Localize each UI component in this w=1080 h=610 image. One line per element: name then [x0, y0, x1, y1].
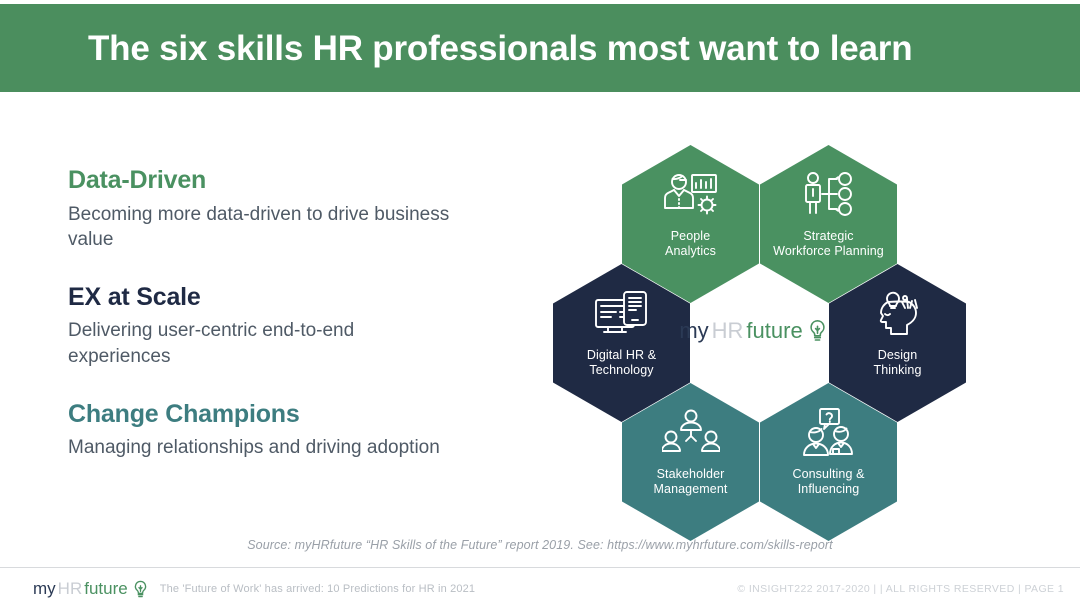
skill-block-data-driven: Data-Driven Becoming more data-driven to… [68, 166, 488, 253]
person-org-branches-icon [800, 167, 858, 223]
logo-text-future: future [746, 318, 802, 344]
footer-logo[interactable]: my HR future [33, 579, 148, 599]
two-people-question-bubble-icon [800, 405, 858, 461]
hexagon-label: People Analytics [659, 229, 722, 260]
footer-bar: my HR future The 'Future of Work' has ar… [0, 567, 1080, 610]
skill-heading: Change Champions [68, 400, 488, 430]
analyst-person-chart-gear-icon [660, 167, 722, 223]
skill-description: Becoming more data-driven to drive busin… [68, 202, 458, 253]
page-title: The six skills HR professionals most wan… [0, 31, 912, 66]
logo-text-my: my [679, 318, 708, 344]
hexagon-label: Strategic Workforce Planning [767, 229, 890, 260]
footer-logo-text-my: my [33, 579, 56, 599]
skill-block-ex-at-scale: EX at Scale Delivering user-centric end-… [68, 283, 488, 370]
footer-logo-text-hr: HR [58, 579, 83, 599]
center-logo: my HR future [678, 310, 828, 352]
source-note: Source: myHRfuture “HR Skills of the Fut… [0, 538, 1080, 552]
head-lightbulb-tools-icon [869, 286, 927, 342]
footer-tagline: The 'Future of Work' has arrived: 10 Pre… [160, 583, 475, 595]
lightbulb-icon [133, 580, 148, 599]
hexagon-label: Design Thinking [867, 348, 927, 379]
three-people-hierarchy-icon [662, 405, 720, 461]
hexagon-label: Stakeholder Management [648, 467, 734, 498]
lightbulb-icon [808, 319, 827, 343]
skill-heading: Data-Driven [68, 166, 488, 196]
header-band: The six skills HR professionals most wan… [0, 4, 1080, 92]
footer-left-group: my HR future The 'Future of Work' has ar… [0, 579, 475, 599]
footer-logo-text-future: future [84, 579, 127, 599]
hexagon-diagram: People Analytics Strategic Workforce Pla… [528, 143, 968, 523]
skills-column: Data-Driven Becoming more data-driven to… [68, 166, 488, 461]
desktop-mobile-devices-icon [592, 286, 652, 342]
skill-heading: EX at Scale [68, 283, 488, 313]
skill-description: Delivering user-centric end-to-end exper… [68, 318, 458, 369]
hexagon-label: Consulting & Influencing [786, 467, 870, 498]
hexagon-label: Digital HR & Technology [581, 348, 662, 379]
skill-description: Managing relationships and driving adopt… [68, 435, 458, 461]
logo-text-hr: HR [712, 318, 744, 344]
footer-copyright: © INSIGHT222 2017-2020 | | ALL RIGHTS RE… [737, 583, 1080, 595]
skill-block-change-champions: Change Champions Managing relationships … [68, 400, 488, 461]
